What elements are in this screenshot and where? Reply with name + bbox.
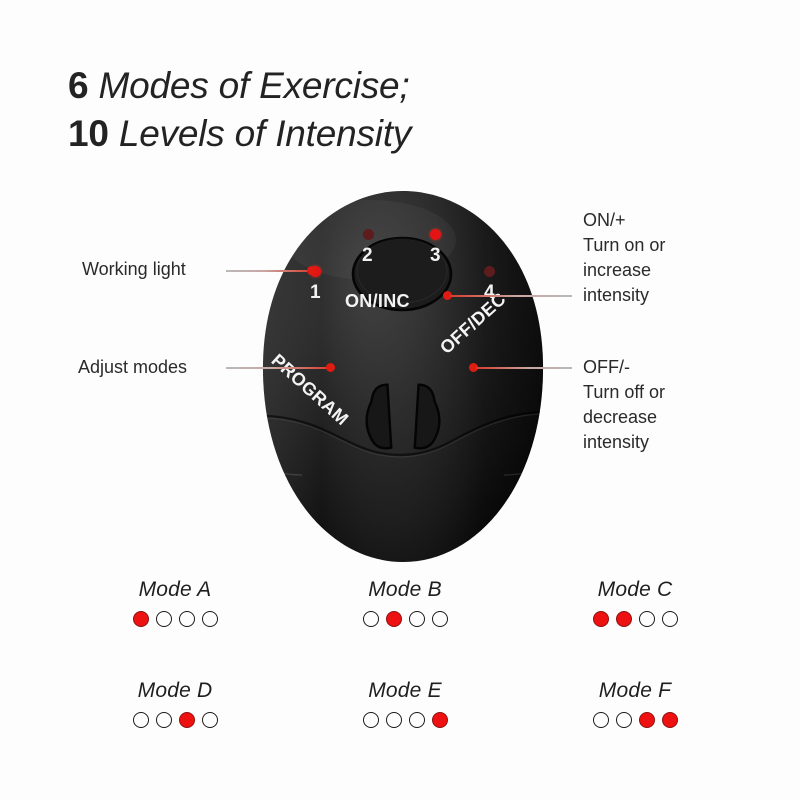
leader-dot-working-light	[307, 266, 316, 275]
title-number-modes: 6	[68, 65, 88, 106]
mode-dot-2-unlit	[156, 712, 172, 728]
mode-dot-3-unlit	[639, 611, 655, 627]
mode-label-c: Mode C	[520, 578, 750, 602]
led-label-1: 1	[310, 282, 321, 304]
leader-line-adjust-modes	[226, 367, 330, 369]
mode-label-d: Mode D	[60, 679, 290, 703]
infographic-page: 6 Modes of Exercise; 10 Levels of Intens…	[0, 0, 800, 800]
mode-dots-a	[60, 611, 290, 627]
mode-dots-c	[520, 611, 750, 627]
mode-label-f: Mode F	[520, 679, 750, 703]
title-number-levels: 10	[68, 113, 109, 154]
device-illustration: 1 2 3 4 ON/INC PROGRAM OFF/DEC	[258, 188, 548, 566]
mode-cell-f: Mode F	[520, 679, 750, 728]
led-3	[430, 229, 441, 240]
mode-cell-a: Mode A	[60, 578, 290, 627]
callout-working-light: Working light	[82, 257, 222, 282]
led-2	[363, 229, 374, 240]
title-line-1: 6 Modes of Exercise;	[68, 62, 668, 110]
mode-dots-d	[60, 712, 290, 728]
title-text-modes: Modes of Exercise;	[88, 65, 409, 106]
mode-dot-3-lit	[179, 712, 195, 728]
mode-indicator-grid: Mode A Mode B Mode C Mode D Mode E Mode …	[60, 578, 750, 728]
mode-dot-1-lit	[593, 611, 609, 627]
callout-on-plus: ON/+ Turn on or increase intensity	[583, 208, 763, 308]
mode-label-a: Mode A	[60, 578, 290, 602]
mode-dot-4-unlit	[662, 611, 678, 627]
leader-line-on-plus	[450, 295, 572, 297]
mode-cell-b: Mode B	[290, 578, 520, 627]
mode-dot-2-unlit	[156, 611, 172, 627]
mode-dot-3-unlit	[409, 712, 425, 728]
mode-dot-4-unlit	[202, 712, 218, 728]
mode-cell-d: Mode D	[60, 679, 290, 728]
mode-dot-3-unlit	[179, 611, 195, 627]
mode-dots-f	[520, 712, 750, 728]
title-line-2: 10 Levels of Intensity	[68, 110, 668, 158]
led-label-3: 3	[430, 245, 441, 267]
leader-line-off-minus	[476, 367, 572, 369]
on-inc-button-label[interactable]: ON/INC	[345, 291, 410, 312]
page-title: 6 Modes of Exercise; 10 Levels of Intens…	[68, 62, 668, 158]
mode-dots-e	[290, 712, 520, 728]
mode-dot-2-lit	[616, 611, 632, 627]
mode-dot-1-lit	[133, 611, 149, 627]
mode-dot-1-unlit	[363, 611, 379, 627]
leader-line-working-light	[226, 270, 312, 272]
mode-dot-1-unlit	[363, 712, 379, 728]
mode-dot-4-unlit	[202, 611, 218, 627]
mode-label-b: Mode B	[290, 578, 520, 602]
callout-adjust-modes: Adjust modes	[78, 355, 223, 380]
mode-cell-c: Mode C	[520, 578, 750, 627]
mode-dot-4-lit	[432, 712, 448, 728]
led-label-2: 2	[362, 245, 373, 267]
mode-label-e: Mode E	[290, 679, 520, 703]
title-text-levels: Levels of Intensity	[109, 113, 411, 154]
led-4	[484, 266, 495, 277]
mode-dots-b	[290, 611, 520, 627]
mode-dot-3-lit	[639, 712, 655, 728]
mode-dot-2-unlit	[616, 712, 632, 728]
callout-off-minus: OFF/- Turn off or decrease intensity	[583, 355, 763, 455]
mode-dot-3-unlit	[409, 611, 425, 627]
mode-dot-4-unlit	[432, 611, 448, 627]
mode-dot-1-unlit	[593, 712, 609, 728]
mode-dot-2-lit	[386, 611, 402, 627]
mode-dot-4-lit	[662, 712, 678, 728]
mode-dot-1-unlit	[133, 712, 149, 728]
mode-cell-e: Mode E	[290, 679, 520, 728]
leader-dot-adjust-modes	[326, 363, 335, 372]
mode-dot-2-unlit	[386, 712, 402, 728]
